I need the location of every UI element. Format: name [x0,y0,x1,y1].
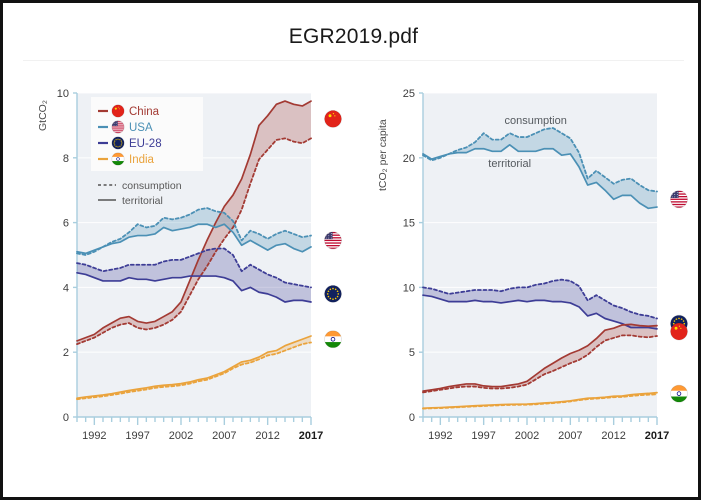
y-axis-title-left: GtCO₂ [37,100,49,131]
china-flag-icon [325,110,342,127]
china-flag-icon [112,105,124,117]
y-axis: 0510152025 [403,88,423,424]
y-tick-label: 6 [63,218,69,230]
y-tick-label: 20 [403,153,415,165]
eu-flag-icon [112,137,124,149]
chart-annotation: territorial [488,158,531,170]
x-tick-label: 2017 [299,430,323,442]
legend-item-label: USA [129,122,153,134]
usa-flag-icon [325,232,342,249]
title-divider [23,60,684,61]
india-flag-icon [325,331,342,348]
x-tick-label: 2002 [169,430,193,442]
y-axis: 0246810 [57,88,77,424]
usa-flag-icon [671,191,688,208]
y-axis-title-right: tCO₂ per capita [377,119,389,191]
x-tick-label: 1992 [82,430,106,442]
y-tick-label: 2 [63,347,69,359]
x-tick-label: 1992 [428,430,452,442]
y-tick-label: 15 [403,218,415,230]
chart-panel-total-emissions: GtCO₂ 0246810199219972002200720122017Chi… [29,79,369,459]
y-tick-label: 25 [403,88,415,100]
china-flag-icon [671,323,688,340]
legend-item-label: China [129,106,160,118]
x-tick-label: 1997 [471,430,495,442]
india-flag-icon [671,385,688,402]
usa-flag-icon [112,121,124,133]
x-axis: 199219972002200720122017 [77,417,323,442]
chart-svg-per-capita: 0510152025199219972002200720122017consum… [369,79,701,459]
legend-item-label: India [129,154,155,166]
y-tick-label: 0 [409,412,415,424]
page-title: EGR2019.pdf [3,25,701,49]
india-flag-icon [112,153,124,165]
y-tick-label: 8 [63,153,69,165]
document-viewer-frame: EGR2019.pdf GtCO₂ 0246810199219972002200… [0,0,701,500]
legend-item-label: EU-28 [129,138,162,150]
legend-style-label: consumption [122,180,182,192]
x-tick-label: 2012 [255,430,279,442]
y-tick-label: 0 [63,412,69,424]
x-axis: 199219972002200720122017 [423,417,669,442]
x-tick-label: 2007 [558,430,582,442]
x-tick-label: 1997 [125,430,149,442]
eu-flag-icon [325,285,342,302]
x-tick-label: 2017 [645,430,669,442]
y-tick-label: 5 [409,347,415,359]
chart-panel-per-capita: tCO₂ per capita 051015202519921997200220… [369,79,701,459]
x-tick-label: 2012 [601,430,625,442]
chart-annotation: consumption [504,115,566,127]
y-tick-label: 4 [63,282,69,294]
y-tick-label: 10 [403,282,415,294]
x-tick-label: 2007 [212,430,236,442]
legend-style-label: territorial [122,195,163,207]
chart-svg-total: 0246810199219972002200720122017ChinaUSAE… [29,79,369,459]
y-tick-label: 10 [57,88,69,100]
x-tick-label: 2002 [515,430,539,442]
